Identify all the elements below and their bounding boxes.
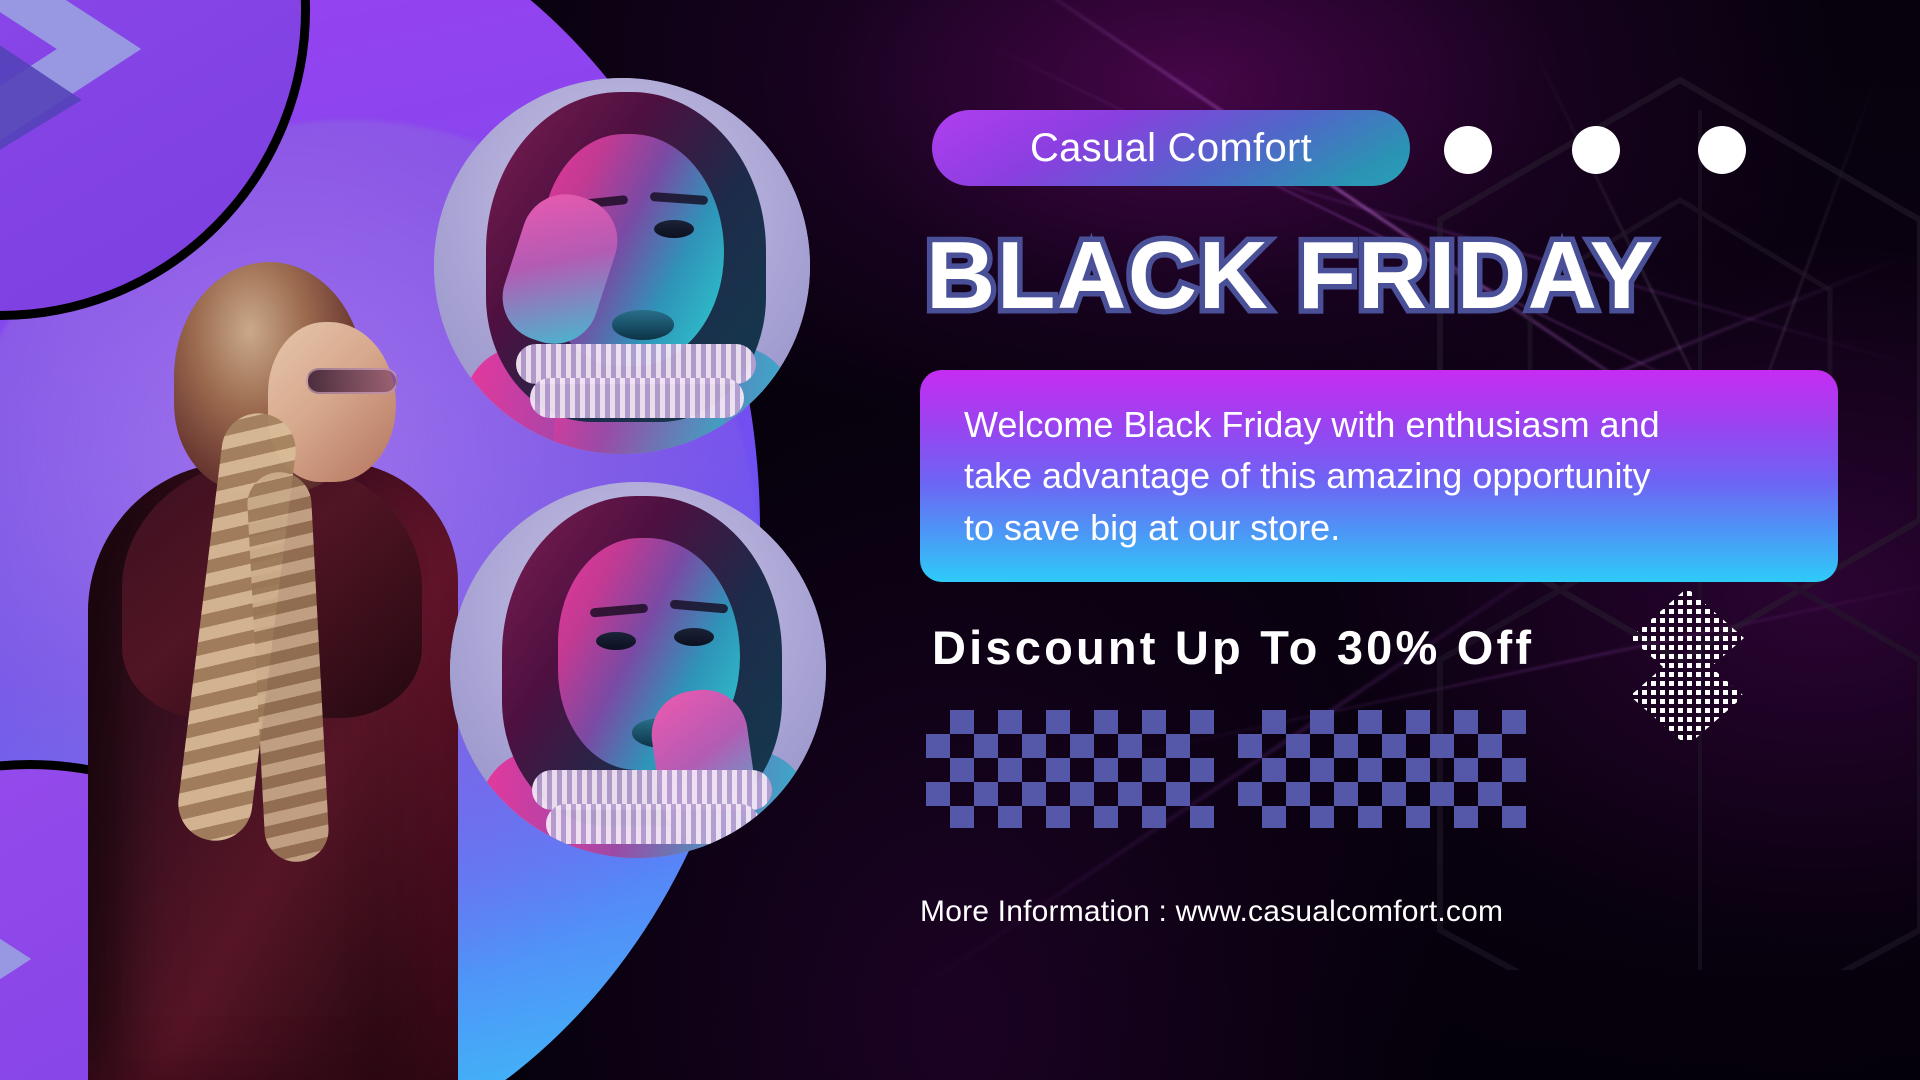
portrait-circle-bottom (450, 482, 826, 858)
brand-badge-label: Casual Comfort (1030, 126, 1312, 171)
content-column: Casual Comfort BLACK FRIDAY Welcome Blac… (932, 0, 1920, 1080)
discount-headline: Discount Up To 30% Off (932, 620, 1912, 675)
model-photo-left (88, 262, 458, 1080)
portrait-eye (674, 628, 714, 646)
portrait-eye (654, 220, 694, 238)
page-title: BLACK FRIDAY (926, 228, 1920, 324)
chevron-triangle-icon (0, 0, 219, 219)
dotted-diamond-icon (1622, 580, 1752, 740)
left-visual-panel (0, 0, 860, 1080)
white-dot-icon (1698, 126, 1746, 174)
checkerboard-pattern-icon (926, 710, 1214, 828)
portrait-circle-top (434, 78, 810, 454)
portrait-eye (596, 632, 636, 650)
checkerboard-pattern-icon (1238, 710, 1526, 828)
necklace-icon (546, 804, 760, 844)
brand-badge[interactable]: Casual Comfort (932, 110, 1410, 186)
black-friday-promo-banner: Casual Comfort BLACK FRIDAY Welcome Blac… (0, 0, 1920, 1080)
decorative-dots-row (1444, 126, 1774, 182)
portrait-lips (612, 310, 674, 340)
sunglasses-icon (306, 368, 398, 394)
necklace-icon (530, 378, 744, 418)
white-dot-icon (1444, 126, 1492, 174)
description-text: Welcome Black Friday with enthusiasm and… (920, 399, 1720, 552)
white-dot-icon (1572, 126, 1620, 174)
chevron-triangle-icon (0, 809, 99, 1080)
footer-info[interactable]: More Information : www.casualcomfort.com (920, 895, 1900, 929)
description-card: Welcome Black Friday with enthusiasm and… (920, 370, 1838, 582)
